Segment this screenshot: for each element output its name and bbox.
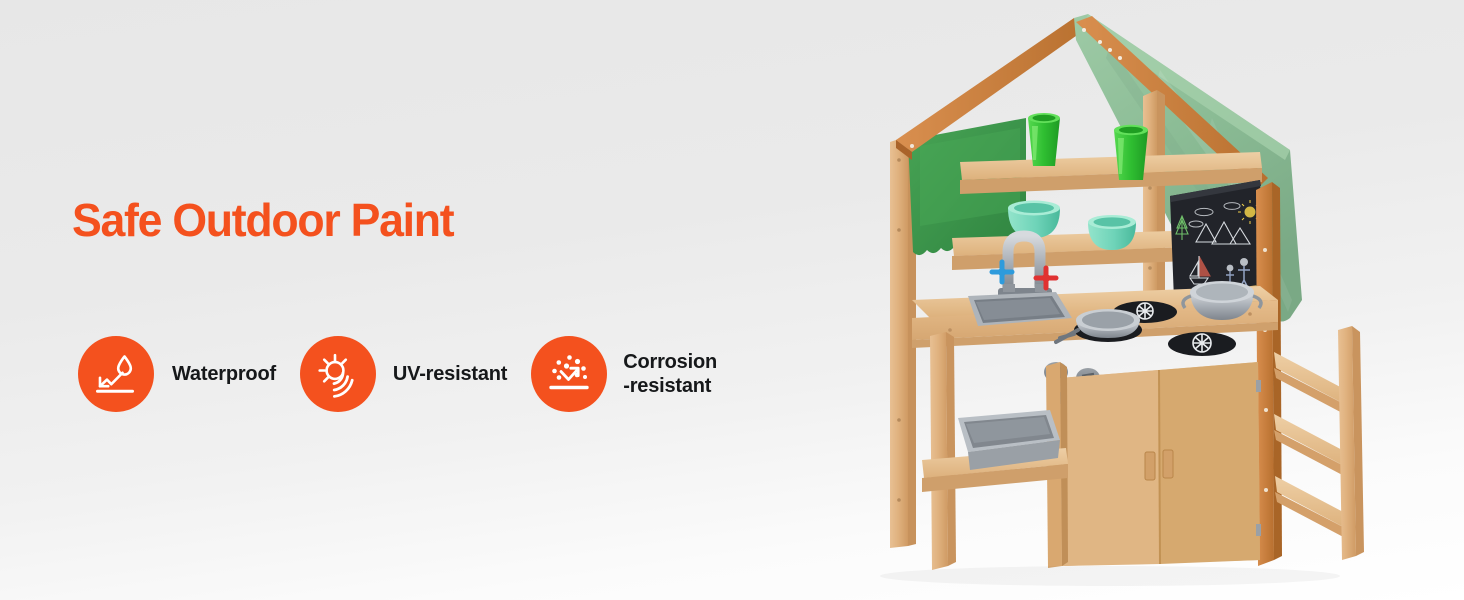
feature-item-uv-resistant: UV-resistant: [300, 336, 507, 412]
feature-label: UV-resistant: [393, 362, 507, 386]
feature-item-waterproof: Waterproof: [78, 336, 276, 412]
wooden-outdoor-mud-play-kitchen-illustration: [860, 0, 1464, 600]
product-feature-banner: Safe Outdoor Paint: [0, 0, 1464, 600]
corrosion-resistant-badge: [531, 336, 607, 412]
green-plant-pot: [1028, 113, 1060, 166]
page-title: Safe Outdoor Paint: [72, 196, 848, 244]
feature-label: Waterproof: [172, 362, 276, 386]
green-plant-pot: [1114, 125, 1148, 180]
feature-list: Waterproof: [78, 336, 717, 412]
center-back-post: [1143, 90, 1165, 304]
water-drop-repel-icon: [91, 349, 141, 399]
feature-label: Corrosion -resistant: [623, 350, 717, 399]
product-image: [860, 0, 1464, 600]
corrosion-particles-repel-icon: [544, 349, 594, 399]
waterproof-badge: [78, 336, 154, 412]
feature-item-corrosion-resistant: Corrosion -resistant: [531, 336, 717, 412]
side-slat-rail: [1274, 326, 1364, 560]
front-left-leg: [930, 332, 956, 570]
copy-block: Safe Outdoor Paint: [72, 196, 872, 244]
uv-resistant-badge: [300, 336, 376, 412]
cabinet-doors: [1056, 362, 1261, 566]
sun-uv-rays-icon: [313, 349, 363, 399]
